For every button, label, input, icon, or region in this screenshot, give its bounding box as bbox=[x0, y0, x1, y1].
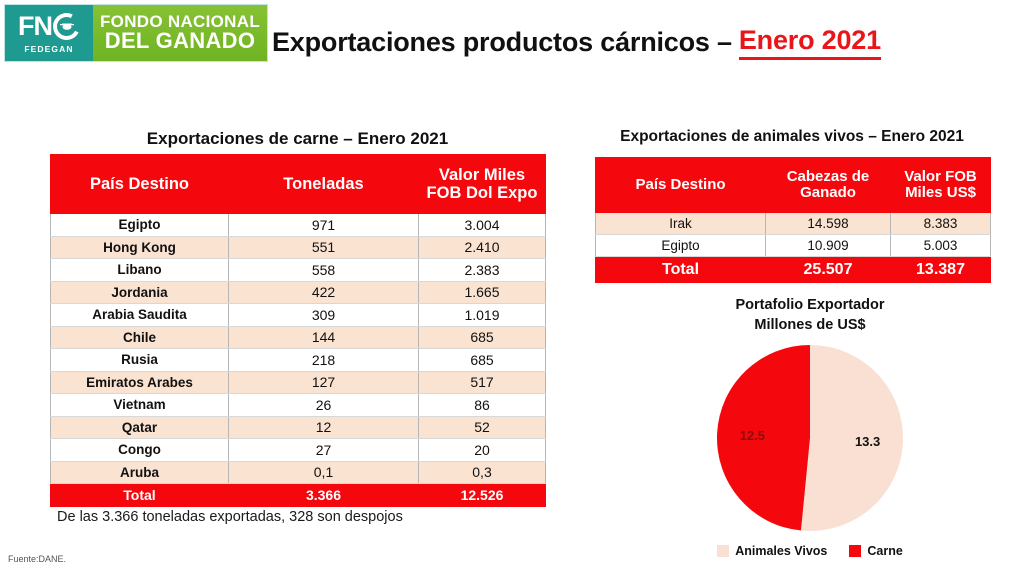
cell-total-tons: 3.366 bbox=[229, 484, 419, 507]
cell-value: 8.383 bbox=[891, 213, 991, 235]
cell-value: 0,3 bbox=[419, 461, 546, 484]
table-row: Libano5582.383 bbox=[51, 259, 546, 282]
cell-value: 3.004 bbox=[419, 214, 546, 237]
table-row: Aruba0,10,3 bbox=[51, 461, 546, 484]
fng-lettermark: FN bbox=[18, 13, 80, 40]
cell-country: Egipto bbox=[51, 214, 229, 237]
pie-chart-graphic: 13.3 12.5 bbox=[716, 344, 904, 532]
cell-value: 685 bbox=[419, 326, 546, 349]
cell-value: 2.383 bbox=[419, 259, 546, 282]
cell-tons: 218 bbox=[229, 349, 419, 372]
cell-value: 2.410 bbox=[419, 236, 546, 259]
cell-value: 1.019 bbox=[419, 304, 546, 327]
table-row: Vietnam2686 bbox=[51, 394, 546, 417]
table-row: Congo2720 bbox=[51, 439, 546, 462]
live-table-header-row: País Destino Cabezas de Ganado Valor FOB… bbox=[596, 158, 991, 213]
fondo-line-2: DEL GANADO bbox=[105, 30, 256, 52]
table-row: Emiratos Arabes127517 bbox=[51, 371, 546, 394]
cell-tons: 971 bbox=[229, 214, 419, 237]
cell-tons: 26 bbox=[229, 394, 419, 417]
table-row: Jordania4221.665 bbox=[51, 281, 546, 304]
cell-value: 5.003 bbox=[891, 235, 991, 257]
cell-tons: 144 bbox=[229, 326, 419, 349]
cell-country: Libano bbox=[51, 259, 229, 282]
col-header-cabezas-ganado: Cabezas de Ganado bbox=[766, 158, 891, 213]
cell-country: Chile bbox=[51, 326, 229, 349]
table-row: Egipto9713.004 bbox=[51, 214, 546, 237]
col-header-valor-miles-fob: Valor Miles FOB Dol Expo bbox=[419, 155, 546, 214]
cell-total-label: Total bbox=[51, 484, 229, 507]
cell-country: Irak bbox=[596, 213, 766, 235]
col-header-toneladas: Toneladas bbox=[229, 155, 419, 214]
cow-head-g-icon bbox=[53, 13, 80, 40]
table-row: Egipto10.9095.003 bbox=[596, 235, 991, 257]
legend-swatch-carne bbox=[849, 545, 861, 557]
cell-country: Emiratos Arabes bbox=[51, 371, 229, 394]
pie-chart-legend: Animales Vivos Carne bbox=[660, 544, 960, 558]
legend-item-carne: Carne bbox=[849, 544, 902, 558]
table-row: Arabia Saudita3091.019 bbox=[51, 304, 546, 327]
table-row: Qatar1252 bbox=[51, 416, 546, 439]
table-row: Rusia218685 bbox=[51, 349, 546, 372]
source-credit: Fuente:DANE. bbox=[8, 554, 66, 564]
cell-country: Hong Kong bbox=[51, 236, 229, 259]
cell-country: Egipto bbox=[596, 235, 766, 257]
live-animals-table-title: Exportaciones de animales vivos – Enero … bbox=[592, 128, 992, 146]
meat-table-title: Exportaciones de carne – Enero 2021 bbox=[50, 129, 545, 149]
cell-country: Vietnam bbox=[51, 394, 229, 417]
live-animals-exports-table: País Destino Cabezas de Ganado Valor FOB… bbox=[595, 157, 991, 283]
pie-slice-label-carne: 12.5 bbox=[740, 428, 765, 443]
cell-value: 685 bbox=[419, 349, 546, 372]
cell-country: Congo bbox=[51, 439, 229, 462]
cell-total-label: Total bbox=[596, 257, 766, 283]
table-row: Hong Kong5512.410 bbox=[51, 236, 546, 259]
cell-tons: 27 bbox=[229, 439, 419, 462]
pie-title-line-2: Millones de US$ bbox=[660, 316, 960, 336]
portfolio-pie-chart: Portafolio Exportador Millones de US$ 13… bbox=[660, 296, 960, 566]
cow-head-icon bbox=[59, 21, 75, 30]
cell-tons: 0,1 bbox=[229, 461, 419, 484]
meat-table-total-row: Total 3.366 12.526 bbox=[51, 484, 546, 507]
pie-chart-title: Portafolio Exportador Millones de US$ bbox=[660, 296, 960, 335]
cell-value: 1.665 bbox=[419, 281, 546, 304]
fedegan-logo: FN FEDEGAN FONDO NACIONAL DEL GANADO bbox=[4, 4, 268, 62]
page-title-period: Enero 2021 bbox=[739, 25, 881, 60]
table-row: Irak14.5988.383 bbox=[596, 213, 991, 235]
cell-tons: 12 bbox=[229, 416, 419, 439]
table-row: Chile144685 bbox=[51, 326, 546, 349]
pie-title-line-1: Portafolio Exportador bbox=[660, 296, 960, 316]
cell-country: Rusia bbox=[51, 349, 229, 372]
legend-swatch-animales-vivos bbox=[717, 545, 729, 557]
fng-letters: FN bbox=[18, 13, 52, 40]
legend-item-animales-vivos: Animales Vivos bbox=[717, 544, 827, 558]
cell-tons: 127 bbox=[229, 371, 419, 394]
meat-table-header-row: País Destino Toneladas Valor Miles FOB D… bbox=[51, 155, 546, 214]
legend-label-animales-vivos: Animales Vivos bbox=[735, 544, 827, 558]
pie-slice-label-animales-vivos: 13.3 bbox=[855, 434, 880, 449]
cell-value: 86 bbox=[419, 394, 546, 417]
legend-label-carne: Carne bbox=[867, 544, 902, 558]
meat-table-footnote: De las 3.366 toneladas exportadas, 328 s… bbox=[57, 509, 577, 525]
cell-heads: 14.598 bbox=[766, 213, 891, 235]
header-band: FN FEDEGAN FONDO NACIONAL DEL GANADO Exp… bbox=[0, 0, 1024, 70]
pie-slice-0 bbox=[801, 345, 903, 531]
cell-tons: 309 bbox=[229, 304, 419, 327]
page-title-main: Exportaciones productos cárnicos – bbox=[272, 27, 732, 58]
cell-country: Jordania bbox=[51, 281, 229, 304]
col-header-valor-fob-miles: Valor FOB Miles US$ bbox=[891, 158, 991, 213]
cell-country: Qatar bbox=[51, 416, 229, 439]
cell-total-value: 13.387 bbox=[891, 257, 991, 283]
meat-exports-table: País Destino Toneladas Valor Miles FOB D… bbox=[50, 154, 546, 507]
col-header-pais-destino: País Destino bbox=[596, 158, 766, 213]
fedegan-wordmark: FEDEGAN bbox=[24, 44, 73, 54]
cell-total-value: 12.526 bbox=[419, 484, 546, 507]
cell-value: 20 bbox=[419, 439, 546, 462]
cell-total-heads: 25.507 bbox=[766, 257, 891, 283]
fondo-nacional-wordmark: FONDO NACIONAL DEL GANADO bbox=[93, 5, 267, 61]
cell-tons: 422 bbox=[229, 281, 419, 304]
live-table-total-row: Total 25.507 13.387 bbox=[596, 257, 991, 283]
page-title: Exportaciones productos cárnicos – Enero… bbox=[272, 20, 1012, 64]
cell-value: 517 bbox=[419, 371, 546, 394]
col-header-pais-destino: País Destino bbox=[51, 155, 229, 214]
cell-tons: 558 bbox=[229, 259, 419, 282]
cell-heads: 10.909 bbox=[766, 235, 891, 257]
cell-tons: 551 bbox=[229, 236, 419, 259]
cell-country: Arabia Saudita bbox=[51, 304, 229, 327]
cell-value: 52 bbox=[419, 416, 546, 439]
cell-country: Aruba bbox=[51, 461, 229, 484]
fng-logo-mark: FN FEDEGAN bbox=[5, 5, 93, 61]
